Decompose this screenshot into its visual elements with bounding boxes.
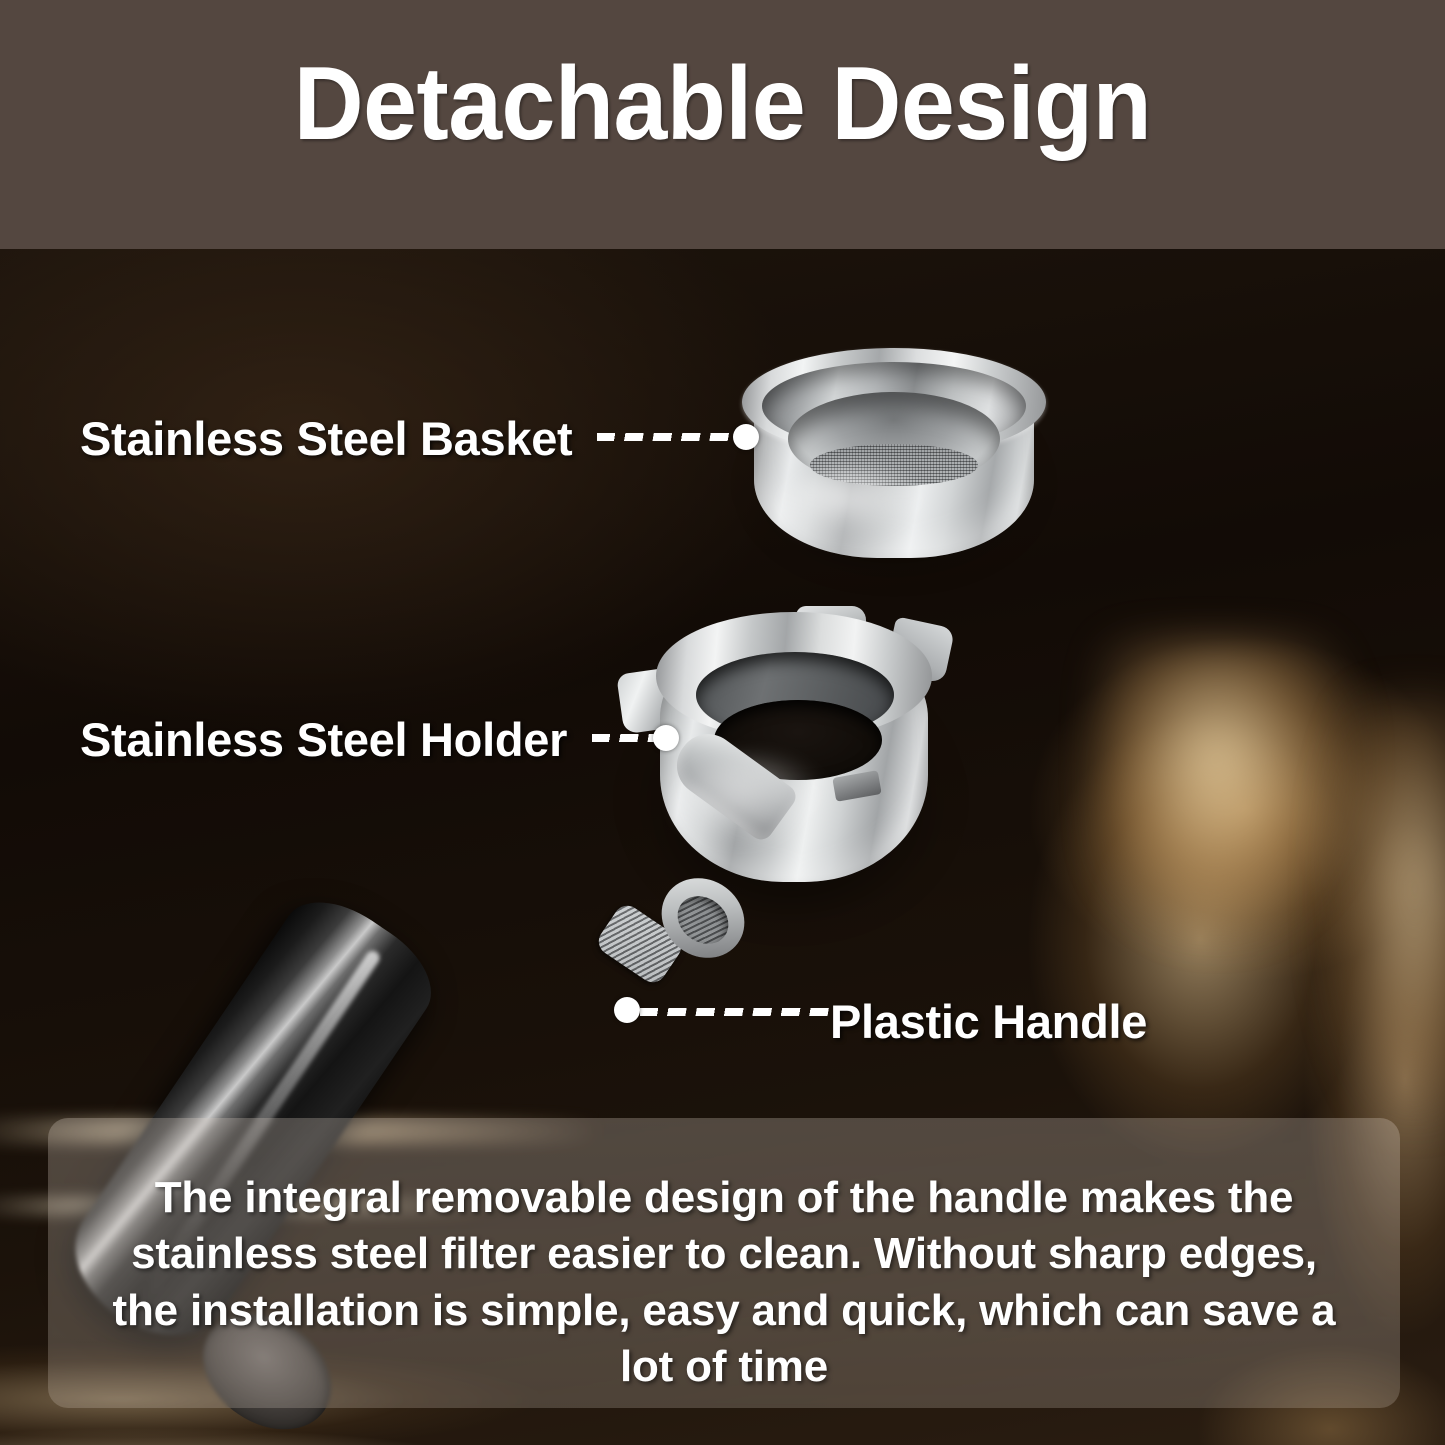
header-banner: Detachable Design	[0, 0, 1445, 249]
caption-panel: The integral removable design of the han…	[48, 1118, 1400, 1408]
callout-dot-holder	[653, 725, 679, 751]
callout-leader-line-handle	[640, 1008, 830, 1016]
callout-label-stainless-steel-holder: Stainless Steel Holder	[80, 712, 567, 767]
callout-dot-basket	[733, 424, 759, 450]
stainless-steel-holder-image	[618, 608, 962, 956]
callout-dot-handle	[614, 997, 640, 1023]
callout-label-stainless-steel-basket: Stainless Steel Basket	[80, 411, 572, 466]
page-title: Detachable Design	[51, 52, 1395, 156]
background-bokeh-glow	[1330, 700, 1445, 1120]
caption-text: The integral removable design of the han…	[104, 1170, 1344, 1395]
product-infographic: Detachable Design Stai	[0, 0, 1445, 1445]
callout-label-plastic-handle: Plastic Handle	[830, 994, 1147, 1049]
holder-specular-highlight	[678, 758, 828, 848]
background-bokeh-glow	[1100, 640, 1360, 940]
callout-leader-line-basket	[597, 433, 747, 441]
basket-specular-highlight	[782, 468, 932, 544]
stainless-steel-basket-image	[742, 348, 1046, 563]
